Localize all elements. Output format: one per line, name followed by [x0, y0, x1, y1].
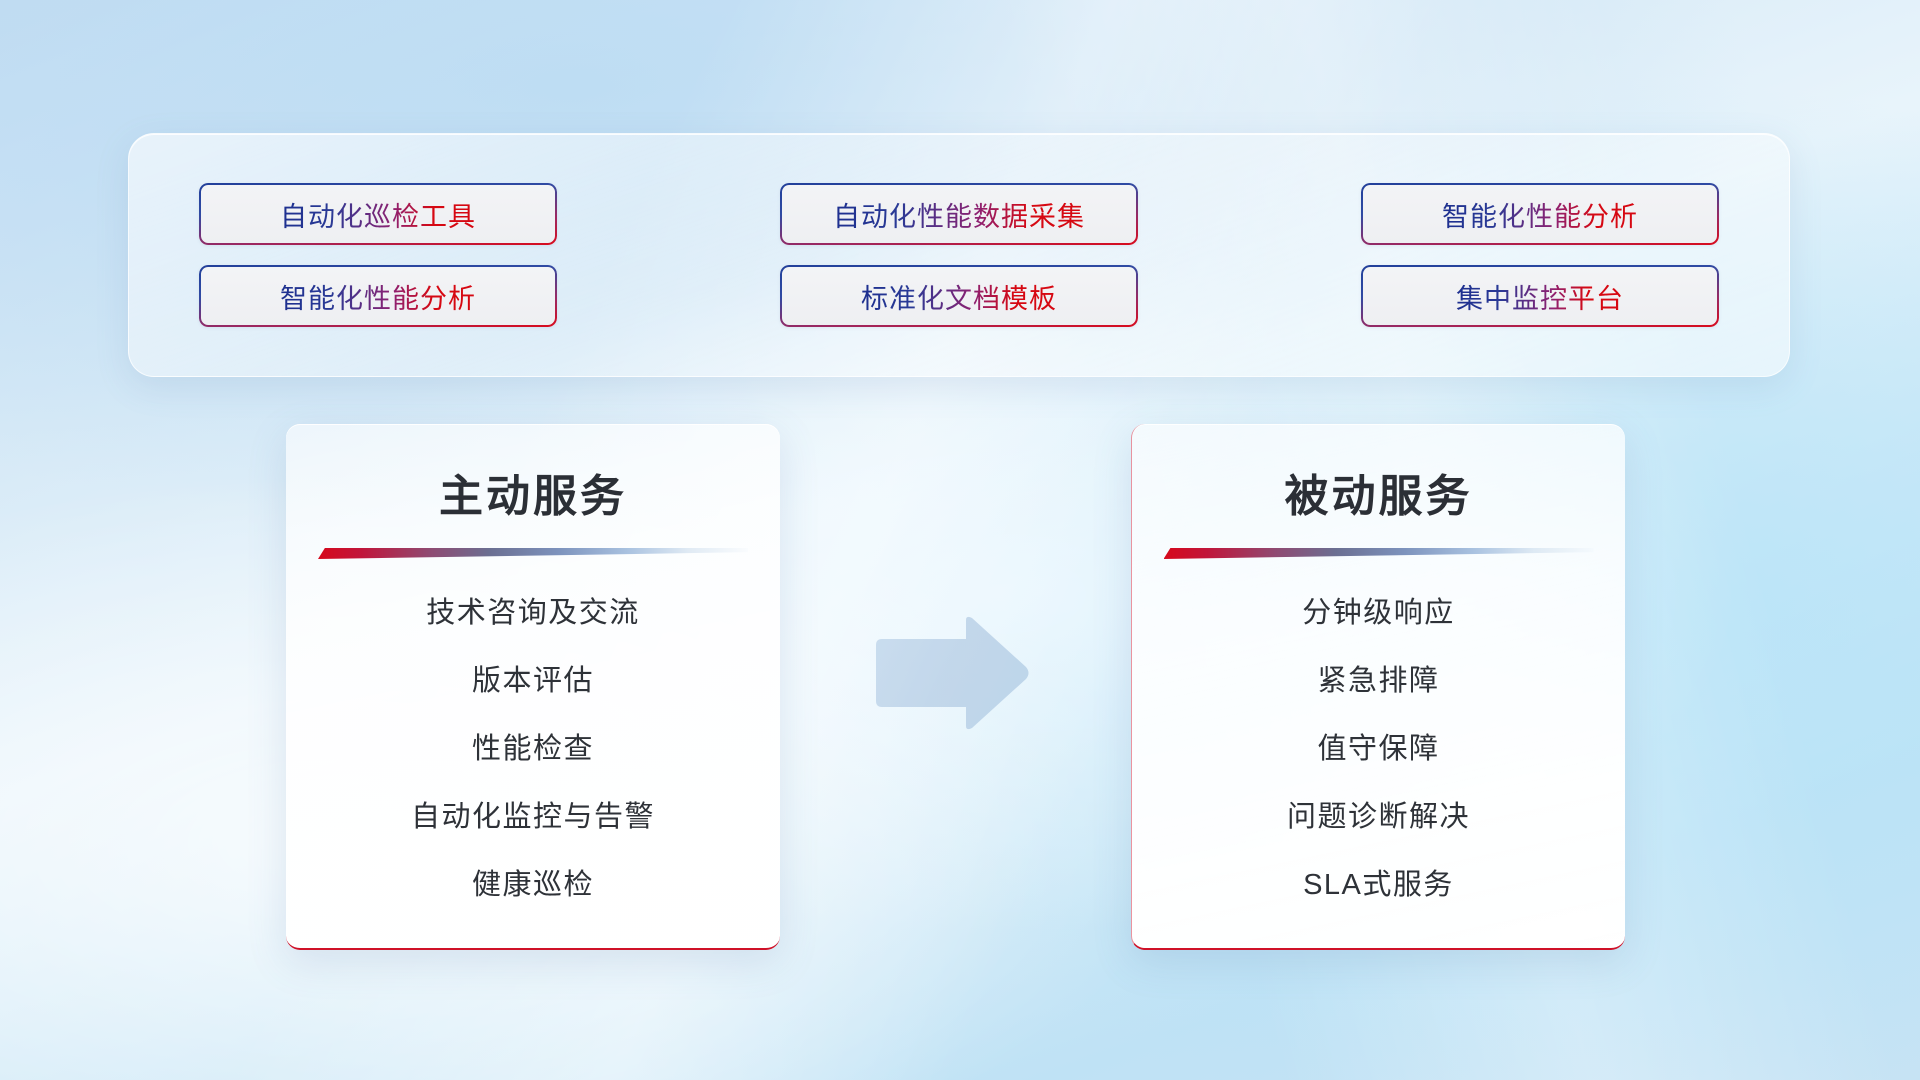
- capability-tag-automated-performance-data-collection[interactable]: 自动化性能数据采集: [780, 183, 1138, 245]
- service-item-list: 分钟级响应 紧急排障 值守保障 问题诊断解决 SLA式服务: [1132, 589, 1625, 903]
- capability-row-2: 智能化性能分析 标准化文档模板 集中监控平台: [199, 265, 1719, 327]
- list-item: 版本评估: [472, 657, 594, 699]
- list-item: SLA式服务: [1303, 861, 1454, 903]
- list-item: 性能检查: [472, 725, 594, 767]
- capability-row-1: 自动化巡检工具 自动化性能数据采集 智能化性能分析: [199, 183, 1719, 245]
- title-gradient-divider: [1164, 548, 1594, 559]
- capability-tag-label: 智能化性能分析: [1442, 195, 1638, 234]
- capability-tag-automated-inspection-tool[interactable]: 自动化巡检工具: [199, 183, 557, 245]
- capability-tag-label: 智能化性能分析: [280, 277, 476, 316]
- service-item-list: 技术咨询及交流 版本评估 性能检查 自动化监控与告警 健康巡检: [286, 589, 780, 903]
- capability-tag-intelligent-performance-analysis[interactable]: 智能化性能分析: [1361, 183, 1719, 245]
- arrow-right-icon: [872, 615, 1032, 731]
- list-item: 紧急排障: [1317, 657, 1439, 699]
- capabilities-panel: 自动化巡检工具 自动化性能数据采集 智能化性能分析 智能化性能分析 标准化文档模…: [128, 133, 1790, 377]
- service-card-proactive: 主动服务 技术咨询及交流 版本评估 性能检查 自动化监控与告警 健康巡检: [286, 424, 780, 950]
- list-item: 自动化监控与告警: [411, 793, 655, 835]
- capability-tag-standardized-document-template[interactable]: 标准化文档模板: [780, 265, 1138, 327]
- list-item: 技术咨询及交流: [426, 589, 640, 631]
- list-item: 问题诊断解决: [1287, 793, 1470, 835]
- capability-tag-label: 自动化巡检工具: [280, 195, 476, 234]
- title-gradient-divider: [318, 548, 748, 559]
- list-item: 值守保障: [1317, 725, 1439, 767]
- capability-tag-label: 自动化性能数据采集: [833, 195, 1085, 234]
- service-card-title: 被动服务: [1132, 460, 1625, 524]
- service-card-reactive: 被动服务 分钟级响应 紧急排障 值守保障 问题诊断解决 SLA式服务: [1131, 424, 1625, 950]
- capability-tag-intelligent-performance-analysis-2[interactable]: 智能化性能分析: [199, 265, 557, 327]
- capability-tag-label: 标准化文档模板: [861, 277, 1057, 316]
- capability-tag-centralized-monitoring-platform[interactable]: 集中监控平台: [1361, 265, 1719, 327]
- list-item: 分钟级响应: [1302, 589, 1455, 631]
- divider-bar: [1164, 548, 1594, 559]
- service-card-title: 主动服务: [286, 460, 780, 524]
- list-item: 健康巡检: [472, 861, 594, 903]
- capability-tag-label: 集中监控平台: [1456, 277, 1624, 316]
- divider-bar: [318, 548, 748, 559]
